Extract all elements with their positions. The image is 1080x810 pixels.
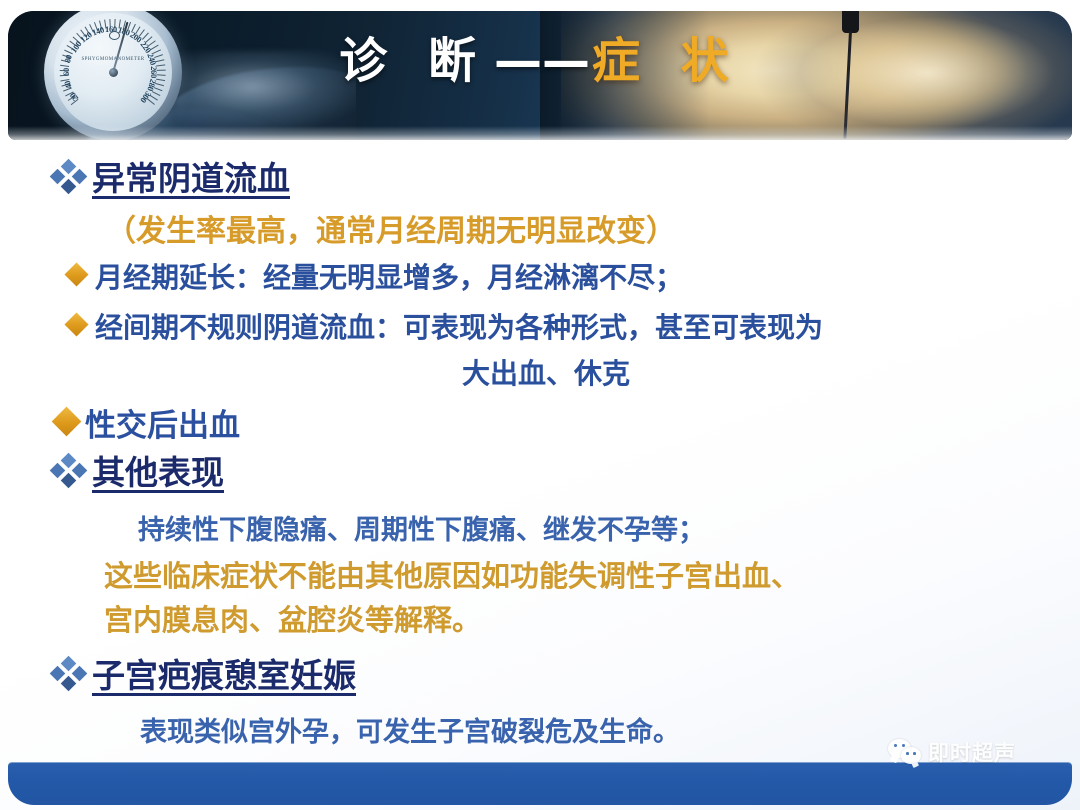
list-item: 这些临床症状不能由其他原因如功能失调性子宫出血、 <box>104 556 800 598</box>
bullet-heading-abnormal-bleeding: 异常阴道流血 <box>92 160 290 197</box>
title-left: 诊 断 <box>339 33 488 89</box>
slide-root: 2040608010012014016018020022024026028030… <box>0 0 1080 810</box>
exclusion-note-line1: 这些临床症状不能由其他原因如功能失调性子宫出血、 <box>104 561 800 593</box>
list-item: 大出血、休克 <box>462 352 630 392</box>
gauge-number: 140 <box>90 25 104 38</box>
exclusion-note-line2: 宫内膜息肉、盆腔炎等解释。 <box>104 605 481 637</box>
list-item: 其他表现 <box>52 446 224 494</box>
sub-item-intermenstrual-bleeding-cont: 大出血、休克 <box>462 358 630 389</box>
diamond-cluster-icon <box>52 658 86 688</box>
bullet-postcoital-bleeding: 性交后出血 <box>85 408 240 443</box>
list-item: 经间期不规则阴道流血：可表现为各种形式，甚至可表现为 <box>68 306 823 346</box>
watermark-text: 即时超声 <box>928 737 1016 767</box>
gold-diamond-icon <box>52 406 82 436</box>
diamond-cluster-icon <box>52 161 86 191</box>
cable-plug <box>842 11 859 33</box>
list-item: 子宫疤痕憩室妊娠 <box>52 649 356 697</box>
list-item: （发生率最高，通常月经周期无明显改变） <box>106 206 676 250</box>
watermark: 即时超声 <box>888 732 1066 772</box>
other-symptoms-detail: 持续性下腹隐痛、周期性下腹痛、继发不孕等； <box>138 515 705 545</box>
list-item: 宫内膜息肉、盆腔炎等解释。 <box>104 600 481 642</box>
list-item: 持续性下腹隐痛、周期性下腹痛、继发不孕等； <box>138 508 705 547</box>
bullet-heading-cesarean-scar-pregnancy: 子宫疤痕憩室妊娠 <box>92 657 356 694</box>
title-right: 症 状 <box>592 33 741 89</box>
gold-diamond-icon <box>64 312 88 336</box>
diamond-cluster-icon <box>52 455 86 485</box>
list-item: 月经期延长：经量无明显增多，月经淋漓不尽； <box>68 256 683 296</box>
list-item: 表现类似宫外孕，可发生子宫破裂危及生命。 <box>140 710 680 749</box>
sub-item-prolonged-menses: 月经期延长：经量无明显增多，月经淋漓不尽； <box>95 262 683 293</box>
list-item: 性交后出血 <box>56 400 240 445</box>
banner-bottom-fade <box>8 126 1072 140</box>
cesarean-scar-pregnancy-detail: 表现类似宫外孕，可发生子宫破裂危及生命。 <box>140 717 680 747</box>
header-banner: 2040608010012014016018020022024026028030… <box>8 11 1072 140</box>
content-area: 异常阴道流血 （发生率最高，通常月经周期无明显改变） 月经期延长：经量无明显增多… <box>0 146 1080 756</box>
wechat-icon <box>888 739 922 765</box>
list-item: 异常阴道流血 <box>52 152 290 200</box>
note-incidence: （发生率最高，通常月经周期无明显改变） <box>106 215 676 248</box>
title-dash: —— <box>494 33 590 89</box>
sub-item-intermenstrual-bleeding: 经间期不规则阴道流血：可表现为各种形式，甚至可表现为 <box>95 312 823 343</box>
bullet-heading-other-symptoms: 其他表现 <box>92 454 224 491</box>
page-title: 诊 断——症 状 <box>8 37 1072 85</box>
gold-diamond-icon <box>64 262 88 286</box>
